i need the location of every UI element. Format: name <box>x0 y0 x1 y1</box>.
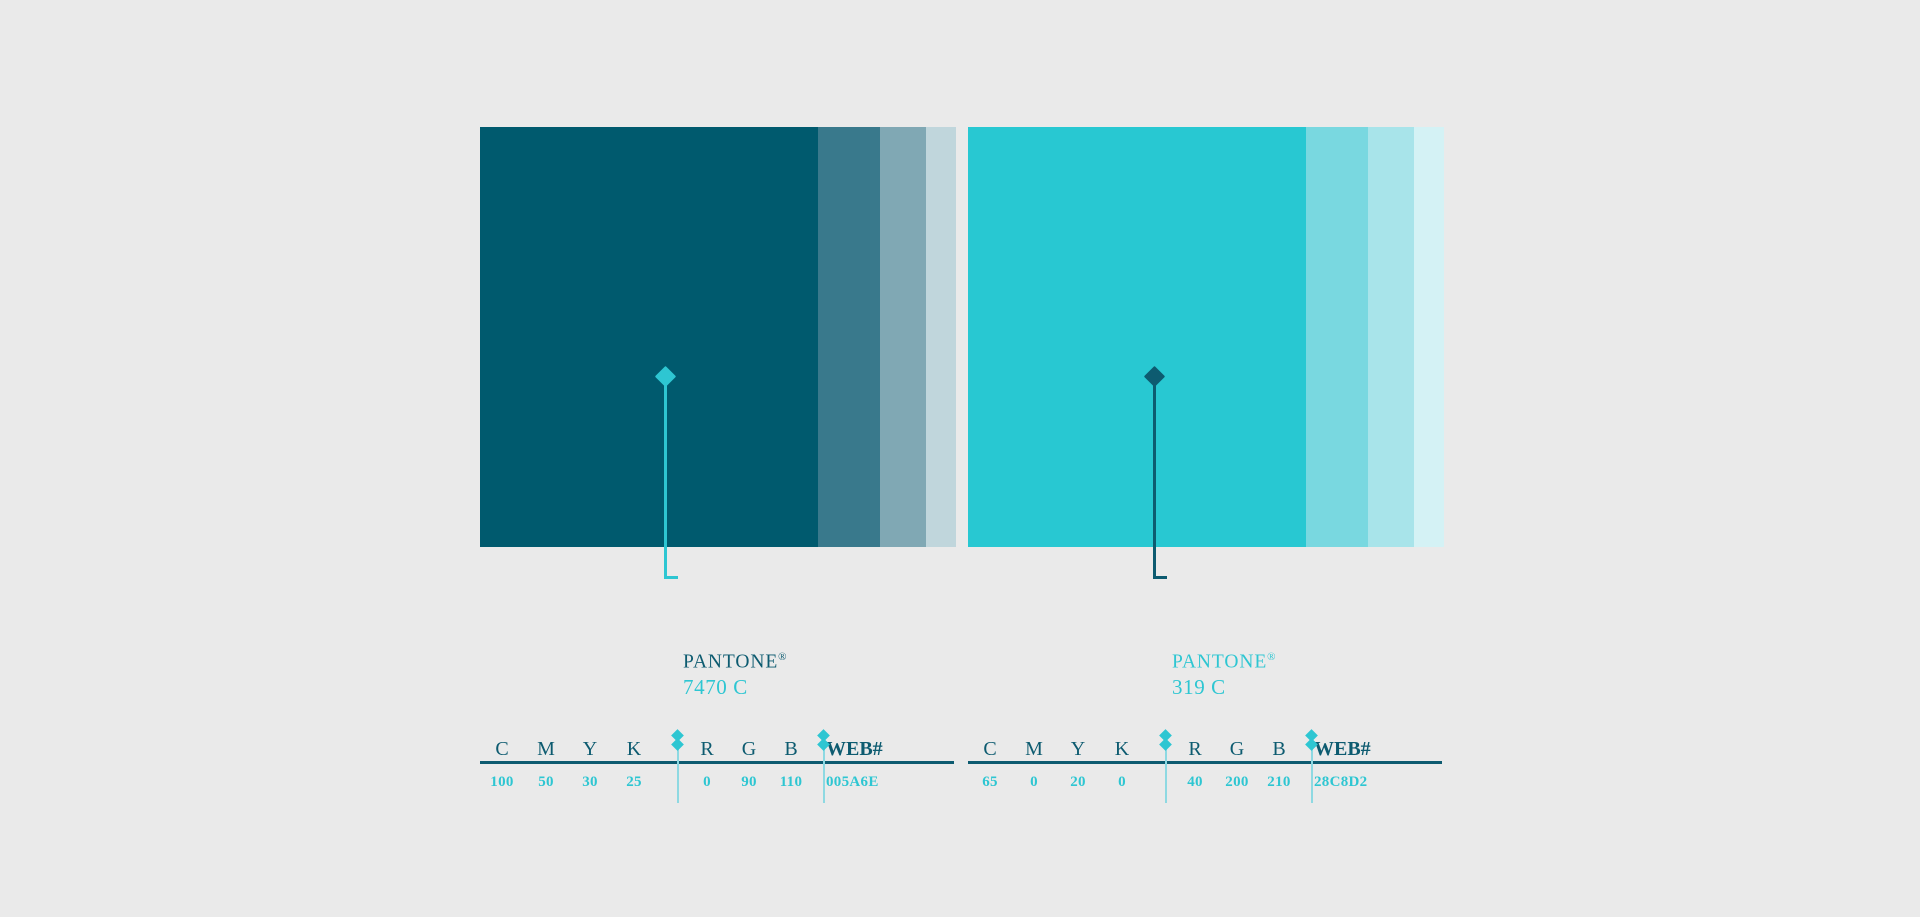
header-black: K <box>612 739 656 759</box>
value-cyan: 100 <box>480 774 524 791</box>
swatch-tint-2[interactable] <box>880 127 926 547</box>
header-blue: B <box>1258 739 1300 759</box>
value-black: 0 <box>1100 774 1144 791</box>
swatch-tint-1[interactable] <box>1306 127 1368 547</box>
callout-line <box>1153 376 1156 576</box>
spec-separator-rgb-web <box>823 741 825 803</box>
diamond-icon <box>1159 738 1172 751</box>
spec-table-header-row: C M Y K R G B WEB# <box>968 727 1442 759</box>
value-green: 200 <box>1216 774 1258 791</box>
value-red: 0 <box>686 774 728 791</box>
spec-separator-rgb-web <box>1311 741 1313 803</box>
swatch-row <box>968 127 1444 547</box>
header-magenta: M <box>524 739 568 759</box>
header-web-hex: WEB# <box>1300 739 1420 759</box>
spec-table-value-row: 65 0 20 0 40 200 210 28C8D2 <box>968 764 1442 794</box>
swatch-tint-3[interactable] <box>926 127 956 547</box>
header-yellow: Y <box>568 739 612 759</box>
swatch-tint-3[interactable] <box>1414 127 1444 547</box>
value-magenta: 0 <box>1012 774 1056 791</box>
header-green: G <box>1216 739 1258 759</box>
header-web-hex: WEB# <box>812 739 932 759</box>
header-green: G <box>728 739 770 759</box>
swatch-row <box>480 127 956 547</box>
header-magenta: M <box>1012 739 1056 759</box>
spec-table-header-row: C M Y K R G B WEB# <box>480 727 954 759</box>
pantone-word-text: PANTONE <box>1172 652 1267 673</box>
value-green: 90 <box>728 774 770 791</box>
color-swatch-group-secondary <box>968 127 1444 547</box>
pantone-code-primary: 7470 C <box>683 675 787 700</box>
swatch-tint-1[interactable] <box>818 127 880 547</box>
header-cyan: C <box>968 739 1012 759</box>
value-cyan: 65 <box>968 774 1012 791</box>
value-yellow: 20 <box>1056 774 1100 791</box>
header-black: K <box>1100 739 1144 759</box>
registered-trademark-icon: ® <box>1267 651 1275 663</box>
callout-elbow <box>1153 576 1167 579</box>
header-red: R <box>686 739 728 759</box>
value-web-hex: 28C8D2 <box>1300 774 1420 791</box>
swatch-main-pantone-7470c[interactable] <box>480 127 818 547</box>
pantone-brand-word: PANTONE® <box>683 645 787 675</box>
pantone-label-secondary: PANTONE® 319 C <box>1172 645 1276 700</box>
color-spec-table-secondary: C M Y K R G B WEB# 65 0 20 0 40 <box>968 727 1442 794</box>
diamond-icon <box>671 738 684 751</box>
spec-separator-cmyk-rgb <box>1165 741 1167 803</box>
value-blue: 210 <box>1258 774 1300 791</box>
header-blue: B <box>770 739 812 759</box>
value-yellow: 30 <box>568 774 612 791</box>
registered-trademark-icon: ® <box>778 651 786 663</box>
callout-line <box>664 376 667 576</box>
callout-elbow <box>664 576 678 579</box>
header-yellow: Y <box>1056 739 1100 759</box>
value-web-hex: 005A6E <box>812 774 932 791</box>
pantone-brand-word: PANTONE® <box>1172 645 1276 675</box>
pantone-label-primary: PANTONE® 7470 C <box>683 645 787 700</box>
pantone-code-secondary: 319 C <box>1172 675 1276 700</box>
value-red: 40 <box>1174 774 1216 791</box>
spec-table-value-row: 100 50 30 25 0 90 110 005A6E <box>480 764 954 794</box>
color-swatch-group-primary <box>480 127 956 547</box>
value-blue: 110 <box>770 774 812 791</box>
color-specification-page: PANTONE® 7470 C C M Y K R G B WEB# 100 <box>0 0 1920 917</box>
header-cyan: C <box>480 739 524 759</box>
swatch-main-pantone-319c[interactable] <box>968 127 1306 547</box>
swatch-tint-2[interactable] <box>1368 127 1414 547</box>
pantone-word-text: PANTONE <box>683 652 778 673</box>
value-magenta: 50 <box>524 774 568 791</box>
color-spec-table-primary: C M Y K R G B WEB# 100 50 30 25 0 <box>480 727 954 794</box>
header-red: R <box>1174 739 1216 759</box>
value-black: 25 <box>612 774 656 791</box>
spec-separator-cmyk-rgb <box>677 741 679 803</box>
